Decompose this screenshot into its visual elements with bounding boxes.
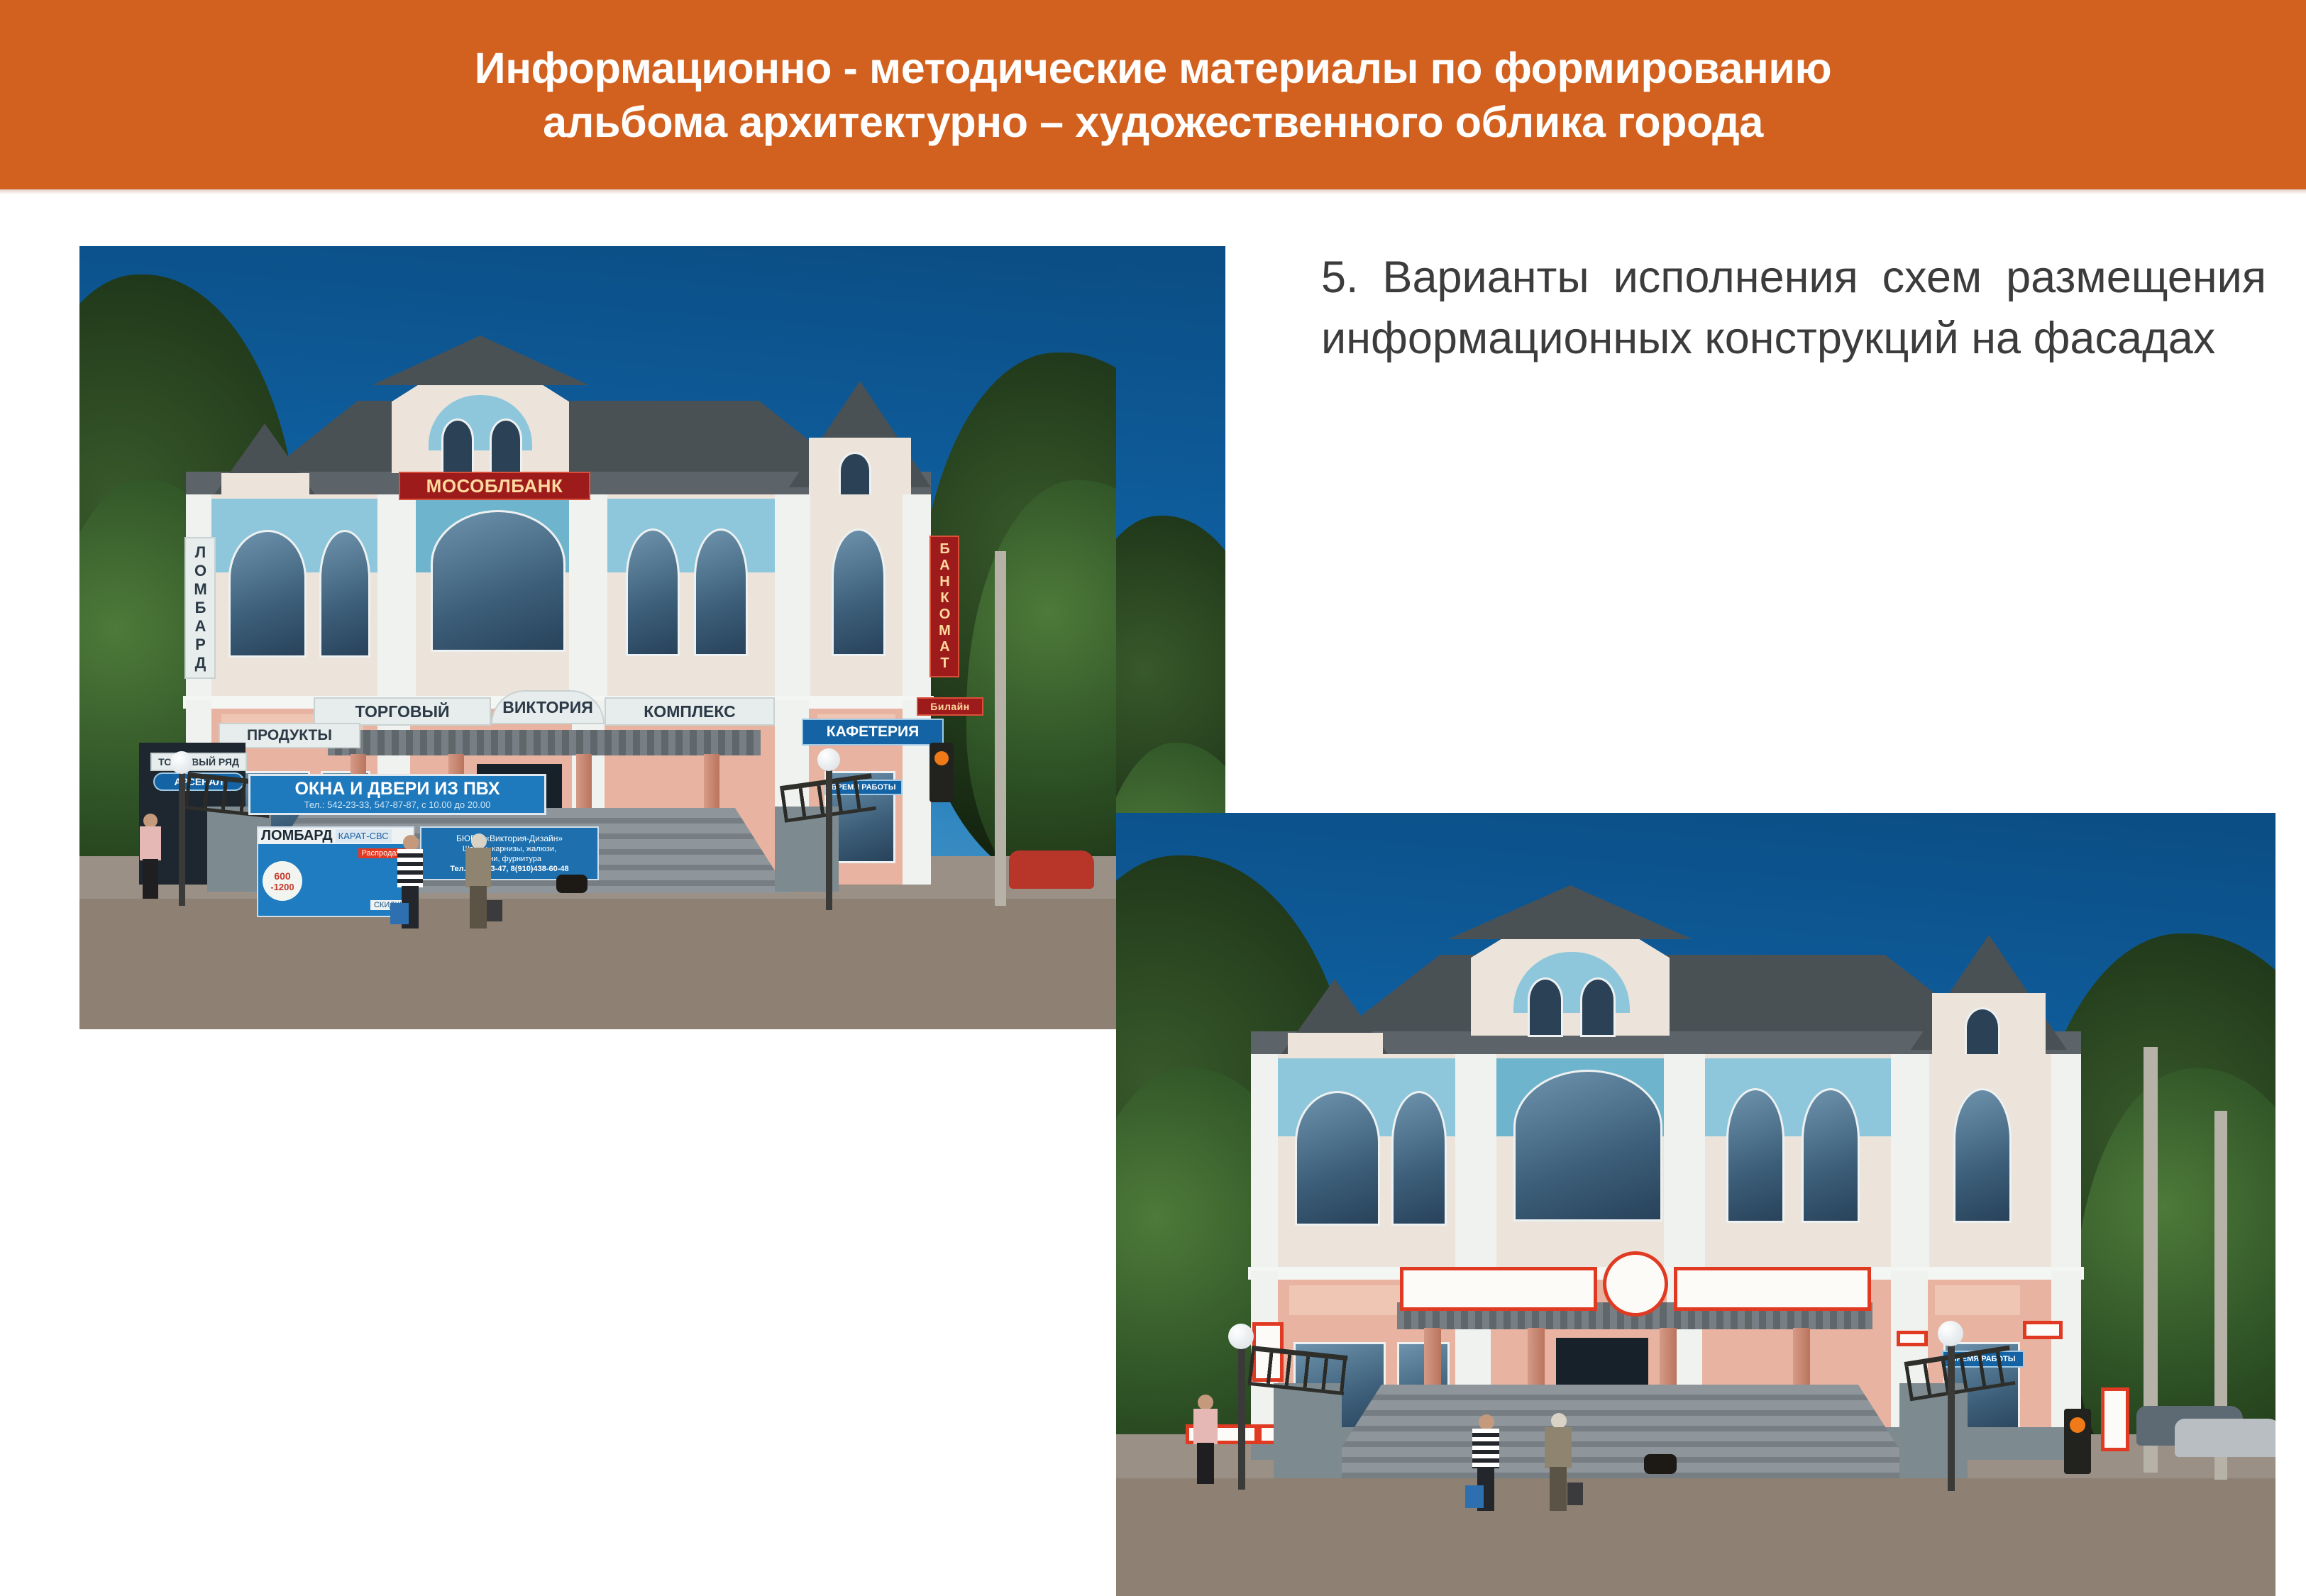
board-blinds-studio: БЮРО «Виктория-Дизайн» Шторы, карнизы, ж… [420,826,599,880]
blank-signboard-corner-small [2023,1321,2063,1339]
pedestrian [463,833,495,929]
slide-header-band: Информационно - методические материалы п… [0,0,2306,189]
pedestrian [1542,1413,1576,1511]
window-gable [441,419,474,474]
board-pawnshop-title: ЛОМБАРД [258,828,336,844]
pedestrian-head [403,835,419,850]
sign-kompleks-text: КОМПЛЕКС [644,702,735,721]
pedestrian-torso [1193,1409,1218,1444]
pedestrian-legs [1550,1467,1567,1511]
dog [1644,1454,1677,1474]
window-upper [228,530,307,658]
window-upper [626,528,680,656]
sign-produkty-text: ПРОДУКТЫ [247,727,332,744]
banner-pvc-windows: ОКНА И ДВЕРИ ИЗ ПВХ Тел.: 542-23-33, 547… [248,774,546,815]
window-upper [1295,1091,1380,1226]
photo-after-proposed-facade: ВРЕМЯ РАБОТЫ [1116,813,2275,1596]
parked-car [2175,1419,2275,1457]
pedestrian-shopping-bag [1465,1485,1484,1508]
page-title: Информационно - методические материалы п… [160,41,2146,149]
section-callout-text: 5. Варианты исполнения схем размещения и… [1321,247,2266,369]
sign-cafeteria: КАФЕТЕРИЯ [802,719,944,746]
board-pawnshop-number-2: -1200 [270,882,294,892]
banner-pvc-title: ОКНА И ДВЕРИ ИЗ ПВХ [294,779,500,799]
street-lamp-pole [1238,1338,1245,1490]
pedestrian-head [1551,1413,1567,1429]
pedestrian-head [143,814,158,828]
pedestrian-legs [1197,1443,1214,1484]
blank-signboard-round-medallion [1603,1251,1668,1317]
pedestrian-head [1479,1414,1494,1430]
sign-mosoblbank-text: МОСОБЛБАНК [426,475,563,497]
pilaster [569,494,607,707]
pilaster [1664,1054,1705,1275]
street-lamp-pole [826,761,832,910]
window-central-large [431,510,566,652]
pedestrian-torso [465,848,491,887]
street-lamp-globe [170,751,193,774]
pedestrian-torso [1545,1427,1572,1468]
sign-viktoriya-text: ВИКТОРИЯ [502,698,593,717]
sign-small-advert-text: Билайн [930,701,969,712]
pedestrian-legs [470,886,487,929]
sign-torgovyi-text: ТОРГОВЫЙ [355,702,450,721]
sign-mosoblbank: МОСОБЛБАНК [399,472,590,500]
sign-torgovyi-ryad: ТОРГОВЫЙ РЯД [150,753,247,771]
sign-viktoriya: ВИКТОРИЯ [491,690,605,724]
street-lamp-globe [1228,1324,1254,1349]
board-pawnshop-brand: КАРАТ-СВС [336,829,392,843]
window-gable [490,419,522,474]
entrance-canopy [328,730,761,755]
blank-signboard-entrance-left [1400,1267,1597,1311]
sign-lombard-vertical: ЛОМБАРД [184,537,216,679]
sign-bankomat-vertical-text: БАНКОМАТ [937,541,953,672]
pilaster [1891,1054,1929,1275]
pedestrian-shopping-bag [1567,1483,1583,1505]
pedestrian-head [471,833,487,849]
entrance-stairs [1322,1385,1918,1478]
pedestrian [1190,1395,1221,1484]
sign-cafeteria-text: КАФЕТЕРИЯ [827,724,919,741]
pilaster [2051,1054,2081,1275]
sign-torgovyi: ТОРГОВЫЙ [314,697,491,726]
pilaster [1251,1054,1278,1275]
header-shadow-divider [0,189,2306,194]
sign-bankomat-vertical: БАНКОМАТ [929,536,959,677]
page-title-line-2: альбома архитектурно – художественного о… [160,95,2146,149]
window-upper [319,530,370,658]
window-upper [1726,1088,1784,1223]
window-upper [832,528,886,656]
board-pawnshop-number-1: 600 [274,870,290,882]
pedestrian [1469,1414,1504,1511]
pilaster [903,494,931,707]
window-central-large [1513,1070,1662,1221]
dog [556,875,587,893]
street-lamp-globe [817,748,840,771]
parked-car [1009,850,1094,889]
traffic-light-amber-lamp [934,751,949,765]
pedestrian [136,814,165,899]
utility-pole [995,551,1006,906]
pedestrian-torso [140,826,161,860]
window-turret-right [1965,1007,2000,1061]
window-gable [1580,977,1616,1037]
page-title-line-1: Информационно - методические материалы п… [160,41,2146,95]
slide-canvas: Информационно - методические материалы п… [0,0,2306,1596]
street-lamp-globe [1938,1321,1963,1346]
stair-plinth [1274,1383,1342,1478]
window-gable [1528,977,1563,1037]
pedestrian-legs [143,859,158,899]
pedestrian-shopping-bag [390,903,409,924]
pilaster [377,494,416,707]
blank-signboard-side-panel [1897,1331,1928,1346]
pedestrian-torso-striped [1472,1429,1499,1468]
pedestrian-shopping-bag [487,900,502,921]
window-upper [1391,1091,1447,1226]
sign-small-advert: Билайн [917,697,983,716]
wall-panel [1935,1285,2020,1315]
pilaster [775,494,810,707]
blank-signboard-entrance-right [1674,1267,1871,1311]
pedestrian [395,835,427,929]
banner-pvc-phone: Тел.: 542-23-33, 547-87-87, с 10.00 до 2… [304,799,491,810]
window-upper [1953,1088,2012,1223]
traffic-light-amber-lamp [2070,1417,2085,1433]
section-callout: 5. Варианты исполнения схем размещения и… [1321,247,2266,369]
window-upper [1802,1088,1860,1223]
street-lamp-pole [179,764,185,906]
street-lamp-pole [1948,1335,1955,1491]
pedestrian-torso-striped [397,849,423,887]
sign-kompleks: КОМПЛЕКС [605,697,775,726]
sign-lombard-vertical-text: ЛОМБАРД [191,543,209,672]
pilaster [1455,1054,1496,1275]
photo-before-existing-facade: МОСОБЛБАНК ТОРГОВЫЙ [79,246,1116,1029]
blank-signboard-right-vertical [2101,1387,2129,1451]
pedestrian-head [1198,1395,1213,1410]
window-upper [694,528,748,656]
